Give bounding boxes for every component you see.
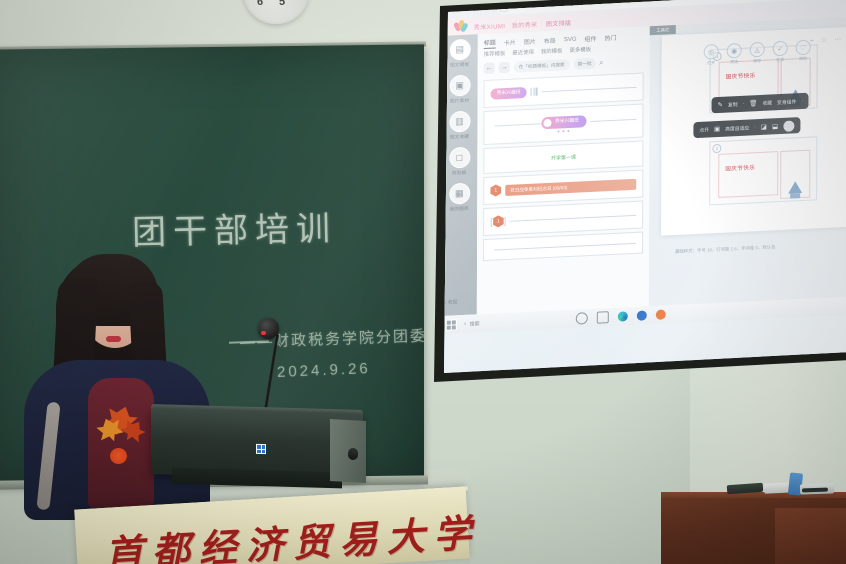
sun-graphic [110,448,127,464]
save-icon: ◬ [750,42,765,58]
podium-knob [348,448,358,460]
sidebar-item-label: 图文模板 [448,61,472,68]
forward-icon[interactable]: → [499,62,510,74]
block-title: 国庆节快乐 [726,71,756,80]
editor-statusbar: 基础样式：字号 16，行间距 1.6，字间距 0，默认色 [675,244,776,255]
chart-icon[interactable]: ◪ [761,123,767,131]
cortana-icon[interactable] [576,312,588,325]
make-component-button[interactable]: 变身组件 [777,98,796,106]
rail-item-label: 打开 [704,60,719,67]
screen-surface: Microsoft Edge 浏览器 × (7) 秀米热 我的图文 × (7) … [426,0,846,390]
list-item[interactable]: 开学第一课 [483,141,643,175]
block-text-box: 国庆节快乐 [718,151,778,198]
desk-front [775,508,846,564]
clipboard-icon: ◻ [456,153,464,162]
template-text: 开学第一课 [551,153,576,161]
projection-screen: Microsoft Edge 浏览器 × (7) 秀米热 我的图文 × (7) … [426,0,846,390]
taskbar-search-label: 搜索 [470,320,480,327]
decor-line [494,242,636,250]
subtab-recommended[interactable]: 推荐模板 [484,49,506,58]
square-icon[interactable]: ▣ [714,125,720,133]
blackboard-title: 团干部培训 [132,201,338,254]
template-badge: 秀米兴趣班 [541,115,586,129]
template-toolbar: ← → 在「标题模板」内搜索 换一批 ⌕ [484,54,656,75]
windows-logo-icon [256,444,266,454]
xiumi-app: ▤ 图文模板 ▣ 图片素材 ▥ 图文收藏 ◻ 剪 [441,16,846,316]
breadcrumb-editor[interactable]: 图文排版 [546,18,572,28]
pencil-icon[interactable]: ✎ [718,101,723,109]
folder-icon: ◎ [704,44,719,60]
bracket-icon: ] [504,216,507,226]
separator: · [743,101,745,106]
taskbar-search[interactable]: ⌕ 搜索 [464,320,480,328]
help-icon: ♡ [796,40,811,56]
rail-item-save[interactable]: ◬ 保存 [750,42,765,65]
expand-button[interactable]: 点开 [699,126,709,133]
editor-top-actions: ⌁ ☆ ⋯ [810,35,842,44]
decor-dots-icon [557,130,569,133]
block-art-box [780,150,810,199]
task-view-icon[interactable] [597,311,609,324]
list-item[interactable]: 秀米兴趣班 [484,72,644,108]
tab-svg[interactable]: SVG [564,36,577,43]
back-icon[interactable]: ← [484,63,495,75]
decor-line [590,118,637,121]
sidebar-item-label: 图片素材 [448,97,472,104]
template-badge: 秀米兴趣班 [491,87,527,100]
sidebar-item-favorites[interactable]: ▥ 图文收藏 [447,111,471,141]
sidebar-item-images[interactable]: ▣ 图片素材 [448,75,472,105]
document-icon: ▤ [455,45,464,54]
sidebar-item-label: 我的图库 [447,205,471,212]
decor-line [510,214,636,221]
tab-layout[interactable]: 布局 [544,36,556,46]
edge-icon[interactable] [618,311,628,321]
text-icon[interactable]: ⬓ [772,122,778,130]
sidebar-item-clipboard[interactable]: ◻ 剪贴板 [447,147,471,177]
separator: · [801,98,803,103]
separator: · [754,125,756,130]
auto-height-button[interactable]: 高度自适应 [725,124,749,132]
rail-item-label: 预览 [727,59,742,66]
xiumi-logo-icon [455,20,468,34]
microphone-indicator [261,331,266,335]
content-block[interactable]: 2 国庆节快乐 [709,136,817,205]
rail-item-open[interactable]: ◎ 打开 [704,44,719,67]
template-number-badge: 1 [493,215,504,228]
template-panel: 标题 卡片 图片 布局 SVG 组件 热门 推荐模板 最近使用 我的模板 [477,26,650,314]
list-item[interactable] [483,232,643,262]
university-name: 首都经济贸易大学 [103,502,482,564]
rail-item-help[interactable]: ♡ 帮助 [796,40,811,63]
trash-icon[interactable]: 🗑 [749,99,757,107]
template-card-list: 秀米兴趣班 秀米兴趣班 [483,72,644,312]
check-icon: ✓ [773,41,788,57]
sidebar-collapse-label: 收起 [448,300,458,305]
breadcrumb-my-xiumi[interactable]: 我的秀米 [512,19,538,29]
sidebar-item-label: 图文收藏 [447,133,471,140]
image-icon: ▣ [455,81,464,90]
decor-line [494,123,541,126]
eye-icon: ◉ [727,43,742,59]
subtab-recent[interactable]: 最近使用 [512,48,534,57]
search-icon: ⌕ [464,321,467,327]
tab-image[interactable]: 图片 [524,37,536,47]
tab-component[interactable]: 组件 [584,34,596,44]
sidebar-item-label: 剪贴板 [447,169,471,176]
sidebar-item-templates[interactable]: ▤ 图文模板 [448,39,472,69]
bracket-icon: [ [490,217,493,227]
list-item[interactable]: [ 1 ] [483,201,643,237]
rail-item-label: 帮助 [796,56,811,63]
start-icon[interactable] [446,319,457,331]
maple-leaf-graphic [96,406,150,466]
rail-item-done[interactable]: ✓ 完成 [773,41,788,64]
template-search-input[interactable]: 在「标题模板」内搜索 [514,59,570,73]
lips [106,336,121,342]
rail-item-label: 保存 [750,58,765,65]
share-icon[interactable]: ⌁ [810,36,814,44]
template-number-badge: 1 [490,184,501,197]
block-number: 2 [712,144,721,153]
list-item[interactable]: 秀米兴趣班 [483,103,643,145]
tab-title[interactable]: 标题 [484,37,496,49]
gallery-icon: ▦ [455,189,464,198]
subtab-more[interactable]: 更多模板 [569,45,591,54]
clock-number-5: 5 [279,0,285,8]
favorite-button[interactable]: 收藏 [762,99,772,106]
xiumi-brand[interactable]: 秀米XIUMI [474,21,505,31]
copy-button[interactable]: 复制 [728,101,738,108]
projected-desktop: Microsoft Edge 浏览器 × (7) 秀米热 我的图文 × (7) … [441,0,846,380]
canvas-toolbar-tag: 工具栏 [650,25,676,35]
pagoda-icon [788,181,802,194]
decor-line [541,86,636,92]
decor-bars-icon [531,88,538,96]
taskbar-icons [576,308,666,324]
rail-item-label: 完成 [773,57,788,64]
browser-icon[interactable] [637,310,647,320]
transparency-swatch-icon[interactable] [783,120,794,132]
template-title: 抗日战争胜利纪念日 (09/03) [505,178,636,195]
tab-card[interactable]: 卡片 [504,38,516,48]
subtab-mine[interactable]: 我的模板 [541,46,563,55]
block-title: 国庆节快乐 [725,163,755,172]
clock-number-6: 6 [257,0,263,8]
sidebar-collapse-button[interactable]: ‹ 收起 [445,298,458,306]
shuffle-button[interactable]: 换一批 [574,58,596,70]
sidebar-item-gallery[interactable]: ▦ 我的图库 [447,183,471,213]
more-icon[interactable]: ⋯ [834,35,841,43]
tab-hot[interactable]: 热门 [605,33,617,43]
search-icon[interactable]: ⌕ [599,59,603,67]
microphone-head [258,318,279,339]
classroom-photo: 6 5 团干部培训 ——财政税务学院分团委 2024.9.26 [0,0,846,564]
list-item[interactable]: 1 抗日战争胜利纪念日 (09/03) [483,170,643,206]
bookmark-icon: ▥ [455,117,464,126]
rail-item-preview[interactable]: ◉ 预览 [727,43,742,66]
star-icon[interactable]: ☆ [821,36,827,44]
app-icon[interactable] [656,309,666,319]
